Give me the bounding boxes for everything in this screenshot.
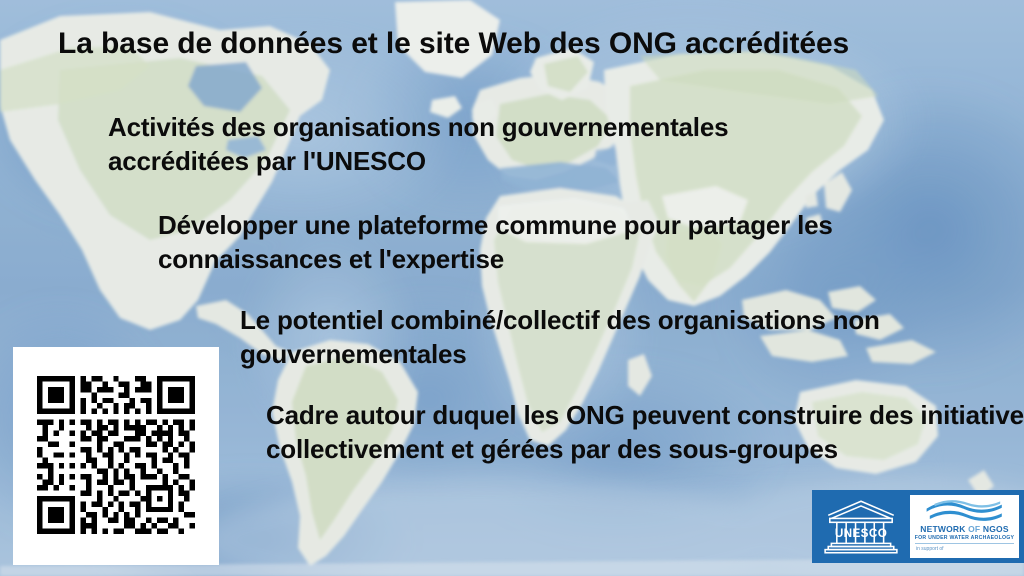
logo-block: UNESCO NETWORK OF NGOS FOR UNDER WATER A… [812, 490, 1024, 563]
page-title: La base de données et le site Web des ON… [58, 26, 998, 61]
bullet-item-3: Le potentiel combiné/collectif des organ… [240, 303, 1000, 372]
network-of-ngos-logo: NETWORK OF NGOS FOR UNDER WATER ARCHAEOL… [910, 495, 1019, 558]
ngo-logo-title: NETWORK OF NGOS [920, 524, 1009, 534]
slide: La base de données et le site Web des ON… [0, 0, 1024, 576]
bullet-item-4: Cadre autour duquel les ONG peuvent cons… [266, 398, 1024, 467]
unesco-wordmark: UNESCO [835, 527, 887, 540]
qr-code-icon[interactable] [37, 369, 195, 541]
ngo-logo-divider [915, 543, 1013, 544]
qr-code-panel [13, 347, 219, 565]
ngo-logo-support-text: in support of [916, 546, 944, 552]
bullet-item-2: Développer une plateforme commune pour p… [158, 208, 918, 277]
bullet-item-1: Activités des organisations non gouverne… [108, 110, 868, 179]
ngo-logo-subtitle: FOR UNDER WATER ARCHAEOLOGY [915, 535, 1015, 541]
waves-icon [924, 499, 1006, 523]
ngo-title-of: OF [968, 524, 980, 534]
unesco-temple-icon: UNESCO [822, 498, 900, 556]
unesco-logo: UNESCO [812, 490, 910, 563]
ngo-title-network: NETWORK [920, 524, 965, 534]
ngo-title-ngos: NGOS [983, 524, 1009, 534]
